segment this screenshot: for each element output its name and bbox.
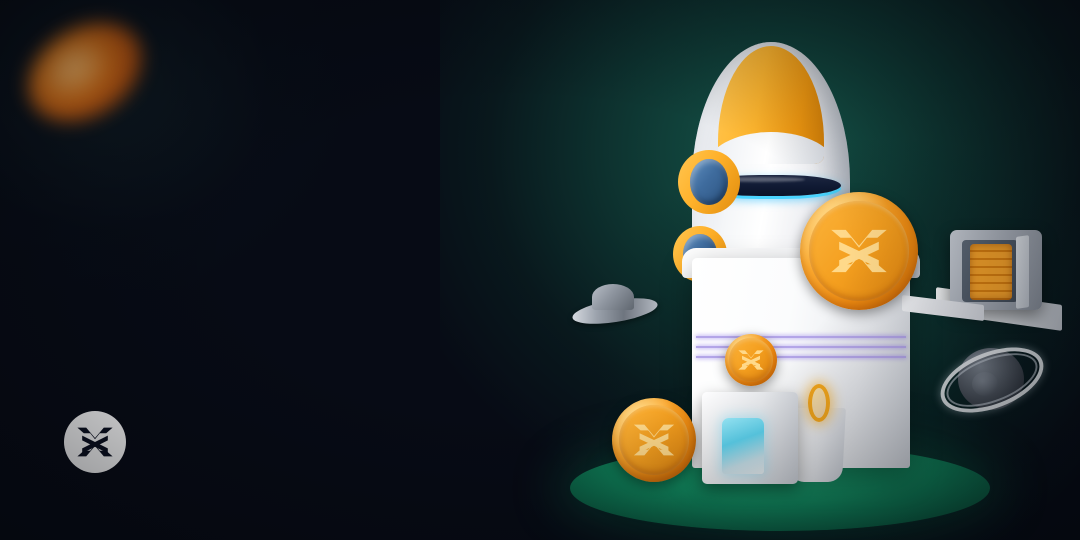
vignette bbox=[0, 0, 1080, 540]
xenophondao-banner bbox=[0, 0, 1080, 540]
